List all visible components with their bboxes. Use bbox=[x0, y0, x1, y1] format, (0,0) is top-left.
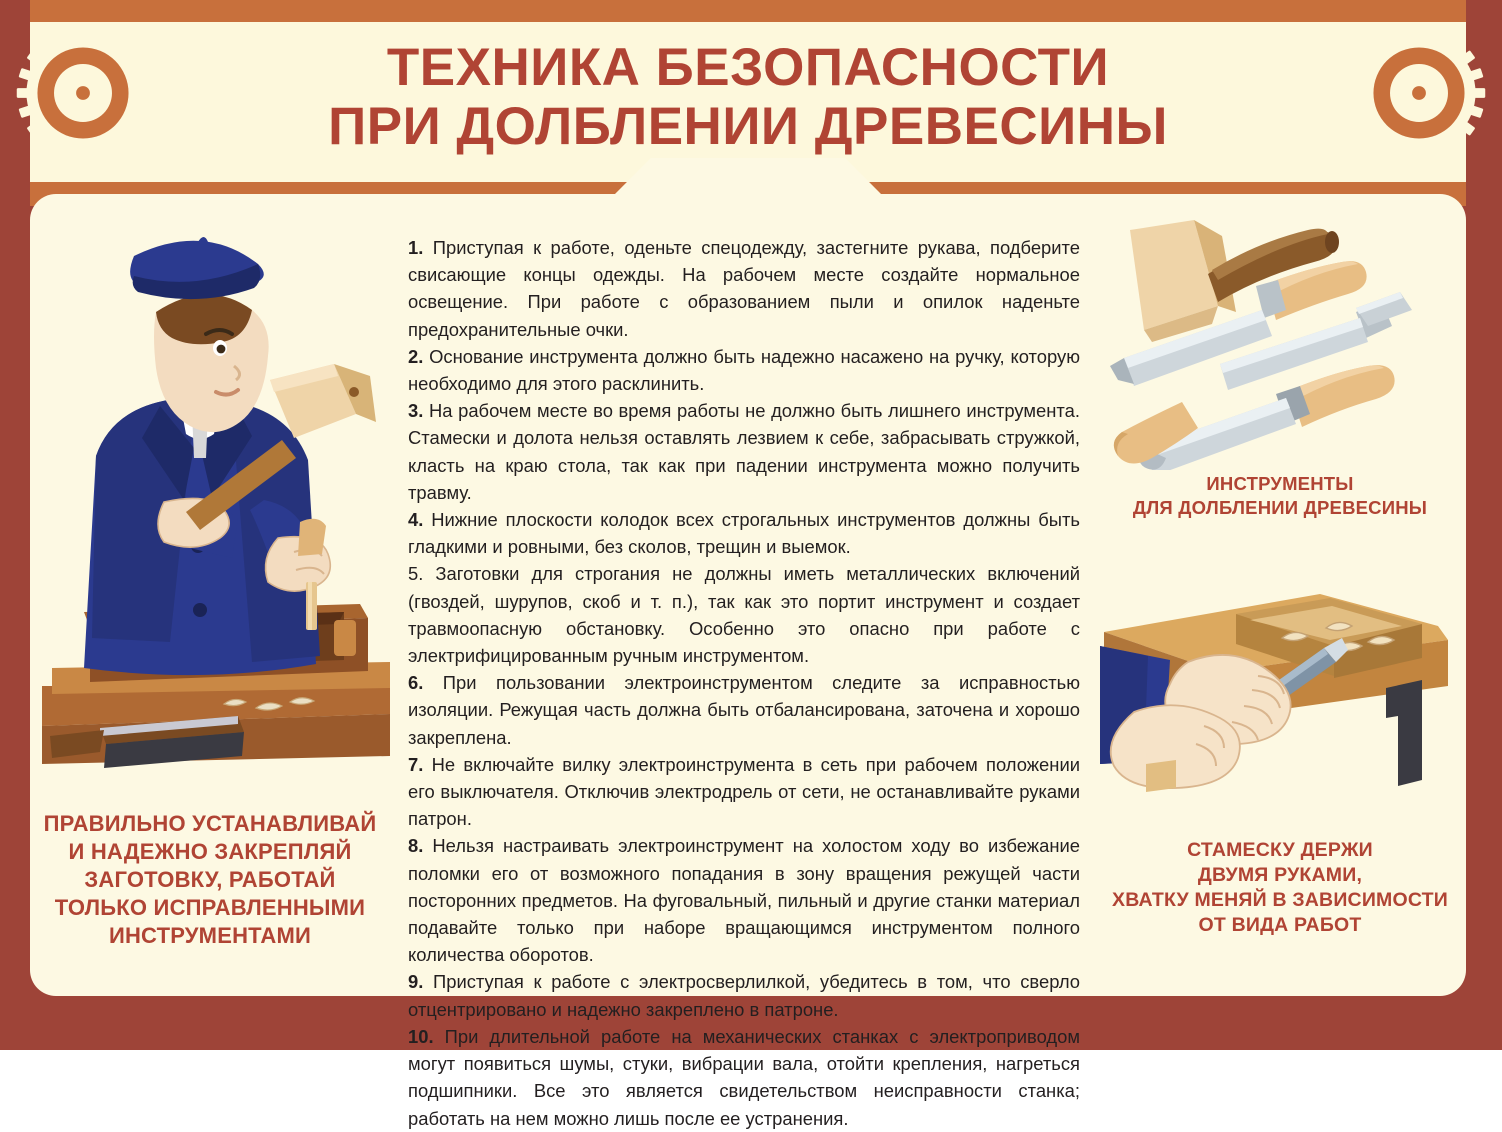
gear-icon-left bbox=[14, 24, 152, 162]
safety-rule-item: 10. При длительной работе на механически… bbox=[408, 1023, 1080, 1132]
tools-illustration bbox=[1100, 208, 1460, 470]
gear-icon-right bbox=[1350, 24, 1488, 162]
safety-rule-item: 8. Нельзя настраивать электроинструмент … bbox=[408, 832, 1080, 968]
safety-rule-item: 2. Основание инструмента должно быть над… bbox=[408, 343, 1080, 397]
safety-rule-item: 6. При пользовании электроинструментом с… bbox=[408, 669, 1080, 751]
rules-column: 1. Приступая к работе, оденьте спецодежд… bbox=[390, 194, 1094, 996]
caption-hold-chisel: СТАМЕСКУ ДЕРЖИ ДВУМЯ РУКАМИ, ХВАТКУ МЕНЯ… bbox=[1094, 838, 1466, 938]
caption-secure-workpiece: ПРАВИЛЬНО УСТАНАВЛИВАЙ И НАДЕЖНО ЗАКРЕПЛ… bbox=[30, 810, 390, 950]
safety-rule-item: 4. Нижние плоскости колодок всех строгал… bbox=[408, 506, 1080, 560]
right-column: ИНСТРУМЕНТЫ ДЛЯ ДОЛБЛЕНИИ ДРЕВЕСИНЫ bbox=[1094, 194, 1466, 996]
safety-rule-item: 9. Приступая к работе с электросверлилко… bbox=[408, 968, 1080, 1022]
safety-rules-list: 1. Приступая к работе, оденьте спецодежд… bbox=[408, 234, 1080, 1132]
worker-chiseling-illustration bbox=[38, 216, 390, 776]
chisel-grip-illustration bbox=[1100, 566, 1466, 816]
safety-rule-item: 7. Не включайте вилку электроинструмента… bbox=[408, 751, 1080, 833]
safety-rule-item: 5. Заготовки для строгания не должны име… bbox=[408, 560, 1080, 669]
safety-rule-item: 1. Приступая к работе, оденьте спецодежд… bbox=[408, 234, 1080, 343]
poster-root: ТЕХНИКА БЕЗОПАСНОСТИ ПРИ ДОЛБЛЕНИИ ДРЕВЕ… bbox=[0, 0, 1502, 1050]
main-content-panel: ПРАВИЛЬНО УСТАНАВЛИВАЙ И НАДЕЖНО ЗАКРЕПЛ… bbox=[30, 194, 1466, 996]
left-column: ПРАВИЛЬНО УСТАНАВЛИВАЙ И НАДЕЖНО ЗАКРЕПЛ… bbox=[30, 194, 390, 996]
content-columns: ПРАВИЛЬНО УСТАНАВЛИВАЙ И НАДЕЖНО ЗАКРЕПЛ… bbox=[30, 194, 1466, 996]
safety-rule-item: 3. На рабочем месте во время работы не д… bbox=[408, 397, 1080, 506]
panel-notch bbox=[613, 158, 883, 196]
page-title: ТЕХНИКА БЕЗОПАСНОСТИ ПРИ ДОЛБЛЕНИИ ДРЕВЕ… bbox=[30, 38, 1466, 156]
caption-tools-title: ИНСТРУМЕНТЫ ДЛЯ ДОЛБЛЕНИИ ДРЕВЕСИНЫ bbox=[1094, 472, 1466, 520]
